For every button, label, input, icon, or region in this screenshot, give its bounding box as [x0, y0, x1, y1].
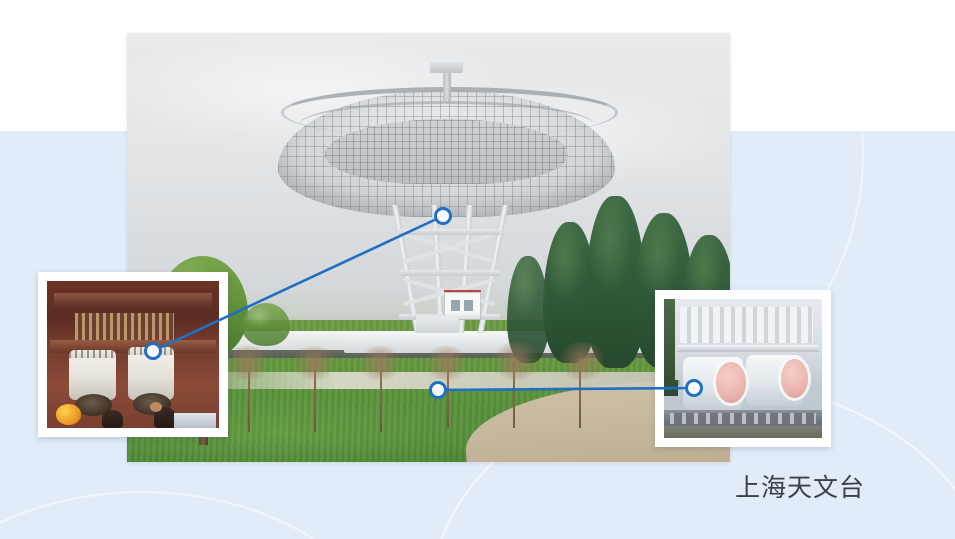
feed-cabin	[430, 62, 464, 73]
motor-end-cap	[781, 359, 808, 398]
mount-brace-horizontal	[399, 229, 499, 234]
dish-backing-truss	[325, 119, 568, 184]
ground-strip	[664, 426, 822, 439]
sapling-crown	[422, 346, 470, 380]
marker-dish-drive	[434, 207, 452, 225]
structure-rail	[677, 345, 819, 352]
inset-photo-right	[655, 290, 831, 447]
page-title: 上海天文台	[735, 468, 865, 504]
worker-head	[102, 410, 123, 428]
worker-hand	[150, 402, 162, 412]
gearbox-flange	[69, 350, 115, 357]
gear-rack-teeth	[75, 313, 175, 339]
inset-photo-left	[38, 272, 228, 437]
inset-left-body	[47, 281, 219, 428]
deciduous-tree	[242, 303, 290, 346]
cabin-window	[464, 300, 473, 311]
mount-bolt-row	[670, 413, 815, 424]
structure-ribs	[680, 307, 813, 343]
marker-inset-left-detail	[144, 342, 162, 360]
marker-azimuth-drive	[429, 381, 447, 399]
gearbox-cylinder	[69, 350, 115, 400]
mount-brace-horizontal	[399, 270, 499, 275]
cabin-window	[451, 300, 460, 311]
machine-cross-beam	[54, 293, 212, 308]
sapling-crown	[223, 346, 271, 380]
motor-end-cap	[716, 362, 746, 404]
marker-inset-right-detail	[685, 379, 703, 397]
worker-shirt	[174, 413, 215, 428]
slide-root: 上海天文台	[0, 0, 955, 539]
decorative-swoosh-3	[0, 491, 404, 539]
inset-right-body	[664, 299, 822, 438]
telescope-dish	[278, 72, 616, 226]
